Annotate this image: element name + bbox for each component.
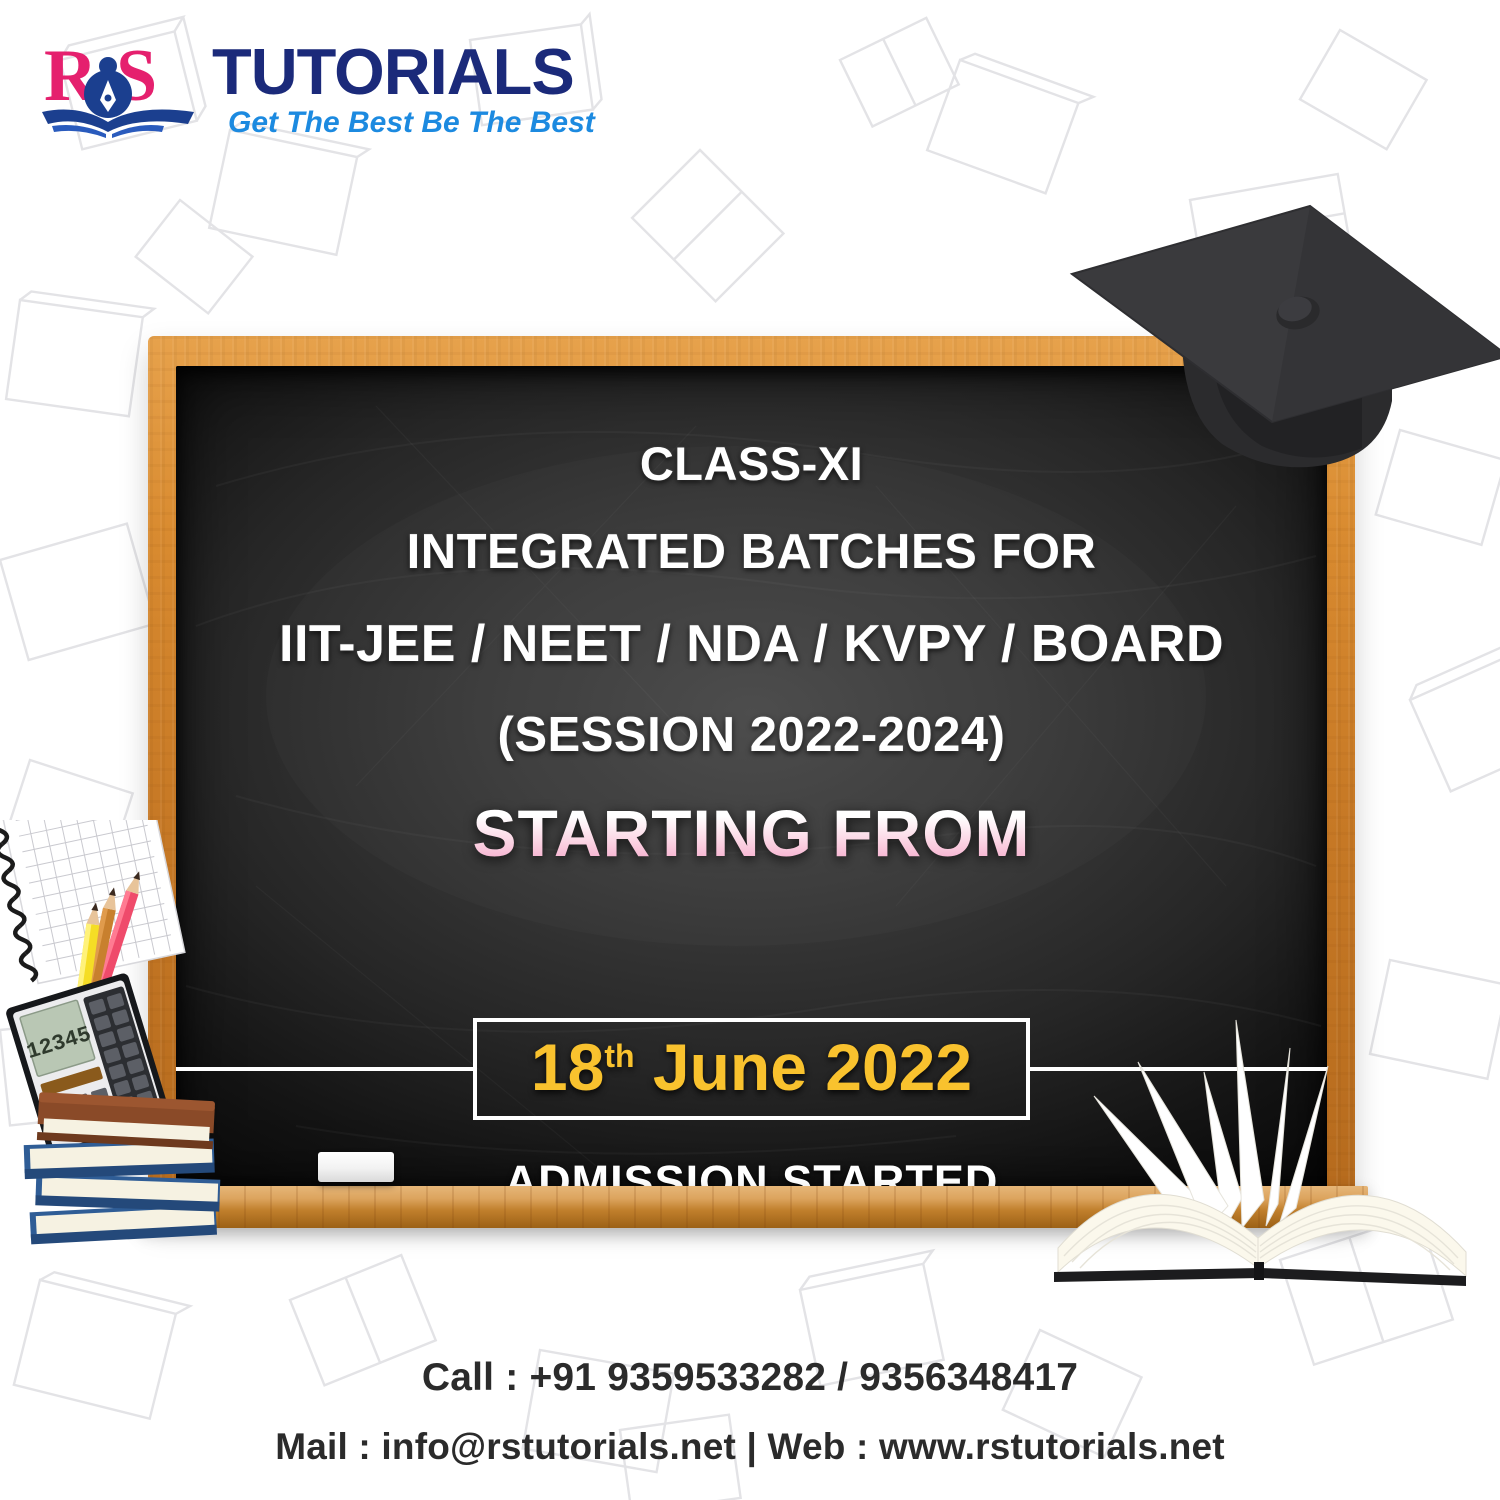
brand-logo[interactable]: R S TUTORIALS Get The Best Be The Best [38,30,595,140]
open-book-icon [1028,1000,1500,1300]
date-ordinal: th [604,1038,634,1074]
brand-tagline: Get The Best Be The Best [212,108,595,138]
date-day: 18 [531,1030,604,1104]
starting-from-text: STARTING FROM [472,795,1030,871]
rs-logo-icon: R S [38,30,198,140]
contact-phone-line[interactable]: Call : +91 9359533282 / 9356348417 [0,1356,1500,1400]
left-school-supplies: 12345 [0,820,254,1300]
page-header: R S TUTORIALS Get The Best Be The Best [0,0,1500,180]
contact-footer: Call : +91 9359533282 / 9356348417 Mail … [0,1356,1500,1468]
board-line-class: CLASS-XI [640,440,863,488]
board-line-session: (SESSION 2022-2024) [498,711,1006,761]
chalk-eraser-icon [318,1152,394,1182]
contact-mail-web-line[interactable]: Mail : info@rstutorials.net | Web : www.… [0,1426,1500,1468]
date-rest: June 2022 [635,1030,973,1104]
board-line-batches: INTEGRATED BATCHES FOR [407,528,1097,578]
start-date-text: 18th June 2022 [531,1034,972,1100]
brand-name: TUTORIALS [212,39,595,104]
board-line-exams: IIT-JEE / NEET / NDA / KVPY / BOARD [279,618,1224,671]
start-date-box: 18th June 2022 [473,1018,1030,1120]
book-stack-icon [24,1092,221,1244]
graduation-cap-icon [1062,196,1500,486]
board-headline-block: CLASS-XI INTEGRATED BATCHES FOR IIT-JEE … [176,440,1327,885]
